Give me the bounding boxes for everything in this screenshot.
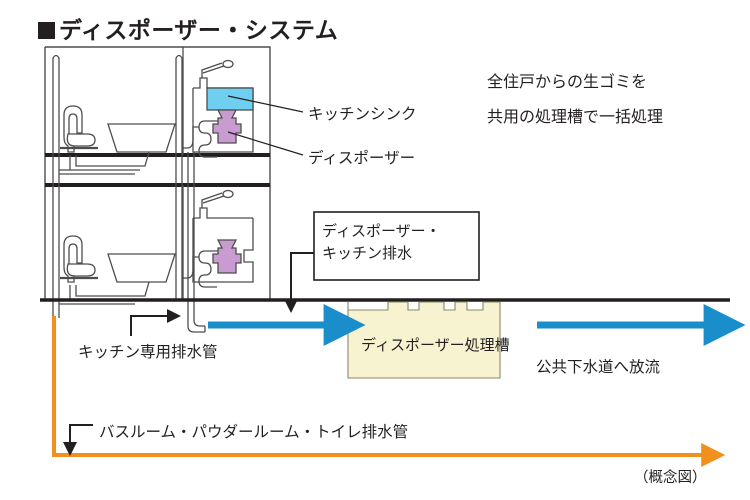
kitchen-dedicated-drain-pipe xyxy=(188,300,205,332)
bullet-square-icon xyxy=(38,22,55,39)
lower-floor-fixtures xyxy=(59,236,175,304)
bathtub-icon xyxy=(108,124,175,152)
callout-box-text: ディスポーザー・ キッチン排水 xyxy=(322,221,441,265)
disposer-unit-icon-lower xyxy=(213,240,241,273)
label-treatment-tank: ディスポーザー処理槽 xyxy=(361,334,510,355)
title-text: ディスポーザー・システム xyxy=(59,17,338,43)
lower-kitchen xyxy=(182,191,253,288)
callout-disposer: ディスポーザー xyxy=(308,146,415,168)
diagram-canvas: ディスポーザー・システム キッチンシンク ディスポーザー 全住戸からの生ゴミを … xyxy=(0,0,750,500)
bathtub-icon-lower xyxy=(108,254,175,282)
callout-box-line-2: キッチン排水 xyxy=(322,243,441,265)
callout-box-line-1: ディスポーザー・ xyxy=(322,221,441,243)
label-kitchen-drain-pipe: キッチン専用排水管 xyxy=(78,340,218,362)
disposer-unit-icon xyxy=(213,110,241,143)
faucet-icon-lower xyxy=(202,191,233,209)
toilet-icon-lower xyxy=(60,236,98,282)
label-bath-drain-pipe: バスルーム・パウダールーム・トイレ排水管 xyxy=(99,420,408,442)
note-line-2: 共用の処理槽で一括処理 xyxy=(487,103,663,127)
upper-floor-fixtures xyxy=(59,106,175,174)
page-title: ディスポーザー・システム xyxy=(38,11,338,45)
label-conceptual-note: （概念図） xyxy=(634,466,707,487)
kitchen-sink-icon xyxy=(207,88,253,110)
faucet-icon xyxy=(202,61,233,79)
label-sewer-discharge: 公共下水道へ放流 xyxy=(536,355,660,377)
toilet-icon xyxy=(60,106,98,152)
note-line-1: 全住戸からの生ゴミを xyxy=(487,68,647,92)
callout-kitchen-sink: キッチンシンク xyxy=(308,102,417,124)
